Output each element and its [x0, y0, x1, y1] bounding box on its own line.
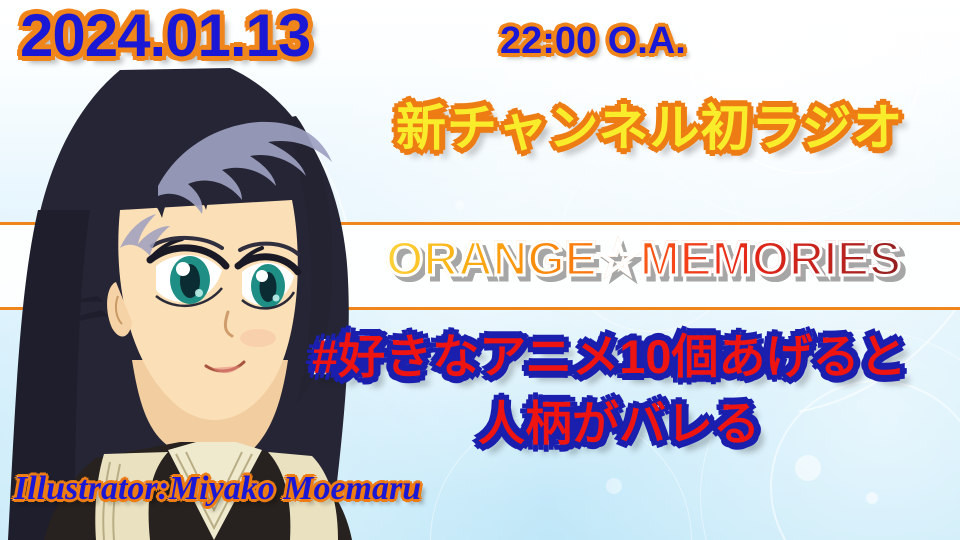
illustrator-credit: Illustrator:Miyako Moemaru	[14, 472, 421, 506]
broadcast-time: 22:00 O.A.	[500, 22, 686, 60]
program-title: ORANGE☆MEMORIES	[386, 236, 901, 284]
cheek-blush	[240, 329, 276, 347]
program-title-text: ORANGE☆MEMORIES	[386, 233, 901, 286]
character-illustration	[0, 60, 420, 540]
program-subtitle: 新チャンネル初ラジオ	[396, 103, 904, 153]
topic-hashtag-line2: 人柄がバレる	[478, 400, 760, 447]
bokeh-dot	[866, 492, 878, 504]
topic-hashtag-line1: #好きなアニメ10個あげると	[312, 333, 906, 380]
bokeh-dot	[455, 200, 465, 210]
bokeh-dot	[795, 455, 821, 481]
bokeh-dot	[606, 478, 622, 494]
broadcast-date: 2024.01.13	[20, 6, 310, 66]
radio-program-banner: 2024.01.13 22:00 O.A. 新チャンネル初ラジオ ORANGE☆…	[0, 0, 960, 540]
